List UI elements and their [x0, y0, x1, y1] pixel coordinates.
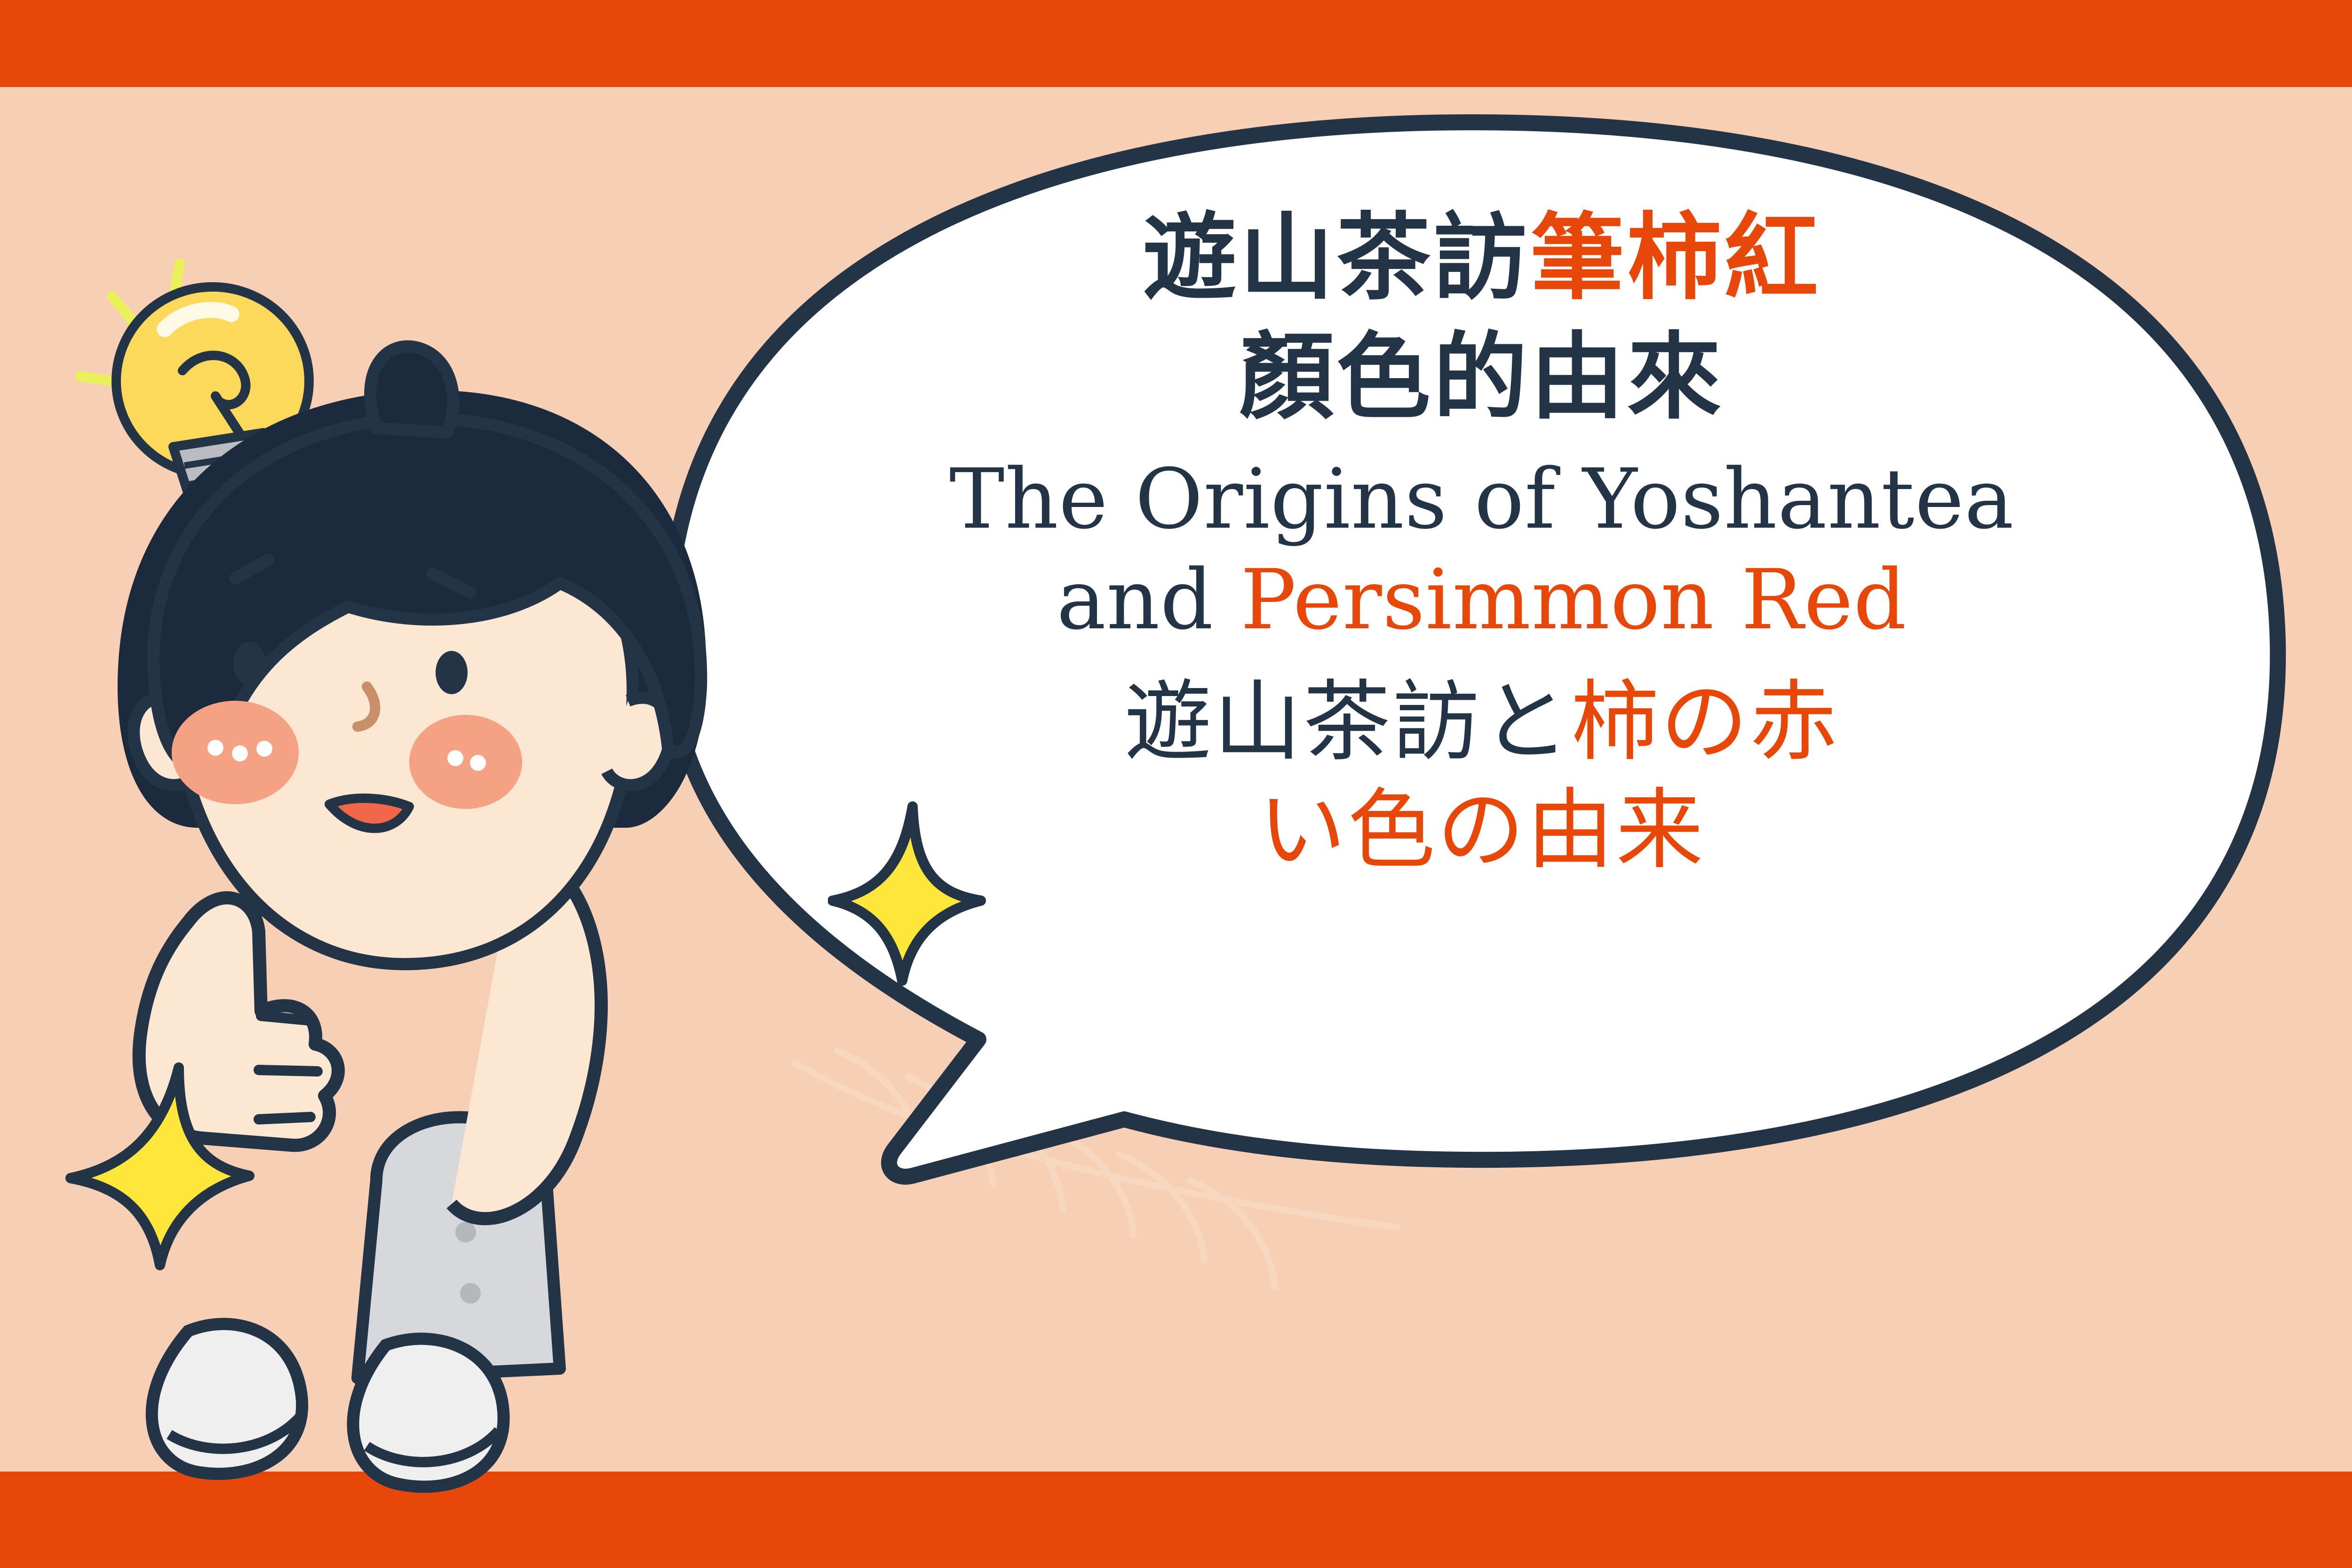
title-chinese-line-1: 遊山茶訪筆柿紅	[800, 202, 2164, 313]
title-english-line-2: and Persimmon Red	[800, 551, 2164, 649]
title-chinese-line-2: 顏色的由來	[800, 322, 2164, 433]
sparkle-star-right-icon	[828, 800, 988, 988]
title-chinese-line-1-accent: 筆柿紅	[1530, 202, 1821, 313]
title-japanese-line-1: 遊山茶訪と柿の赤	[800, 670, 2164, 773]
title-english-line-2-plain: and	[1057, 552, 1240, 648]
bubble-text-block: 遊山茶訪筆柿紅 顏色的由來 The Origins of Yoshantea a…	[800, 202, 2164, 881]
title-japanese-line-2: い色の由来	[800, 778, 2164, 881]
title-japanese-line-1-accent: 柿の赤	[1571, 671, 1839, 773]
title-english-line-1: The Origins of Yoshantea	[800, 451, 2164, 548]
top-orange-band	[0, 0, 2352, 87]
title-english-line-2-accent: Persimmon Red	[1240, 552, 1907, 648]
title-japanese-line-1-plain: 遊山茶訪と	[1124, 671, 1571, 773]
title-chinese-line-1-plain: 遊山茶訪	[1143, 202, 1530, 313]
thinking-boy-illustration	[47, 249, 847, 1519]
sparkle-star-left-icon	[61, 1058, 259, 1275]
